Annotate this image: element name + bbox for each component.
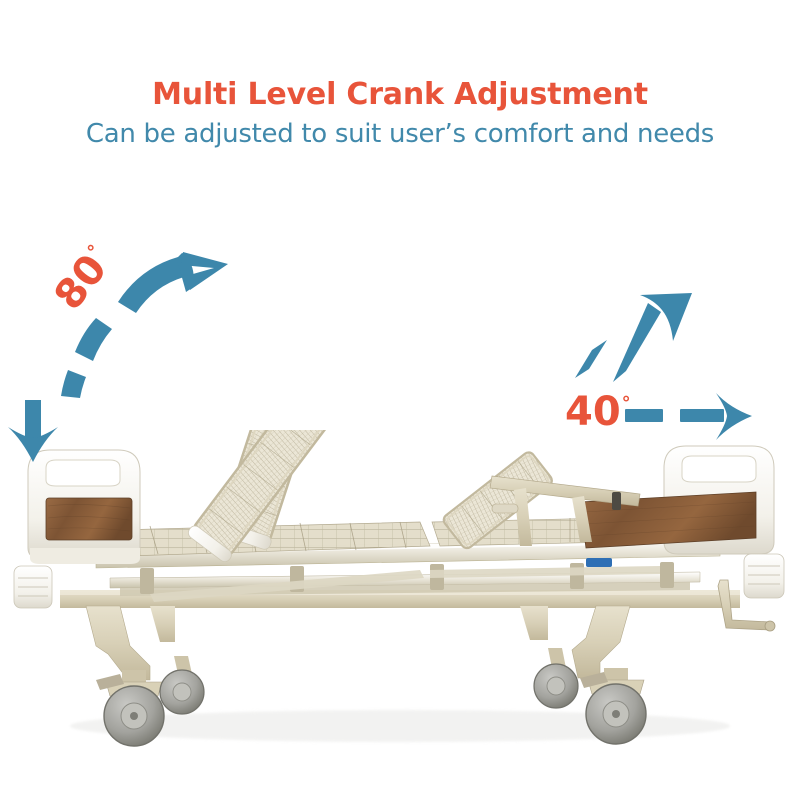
angle-40-value: 40: [565, 389, 621, 435]
degree-symbol-40: °: [622, 393, 631, 414]
page-subtitle: Can be adjusted to suit user’s comfort a…: [0, 118, 800, 152]
angle-label-40: 40°: [565, 392, 631, 432]
caster-wheel-front-left: [96, 670, 164, 746]
product-infographic: Multi Level Crank Adjustment Can be adju…: [0, 0, 800, 800]
angle-label-80: 80°: [48, 240, 120, 316]
status-indicator: [586, 558, 612, 567]
dash-tick-upper-right: [575, 340, 607, 378]
caster-wheel-rear-left: [160, 656, 204, 714]
page-title: Multi Level Crank Adjustment: [0, 78, 800, 113]
hospital-bed-illustration: [0, 430, 800, 760]
heading-block: Multi Level Crank Adjustment Can be adju…: [0, 78, 800, 151]
diagonal-arrow-up-right-icon: [613, 293, 692, 382]
corner-bumper-right: [744, 554, 784, 598]
arc-arrow-up-right-icon: [118, 252, 228, 313]
angle-80-value: 80: [46, 246, 117, 318]
base-frame: [60, 590, 740, 680]
arc-dash-segments: [61, 318, 112, 398]
caster-wheel-rear-right: [534, 648, 578, 708]
